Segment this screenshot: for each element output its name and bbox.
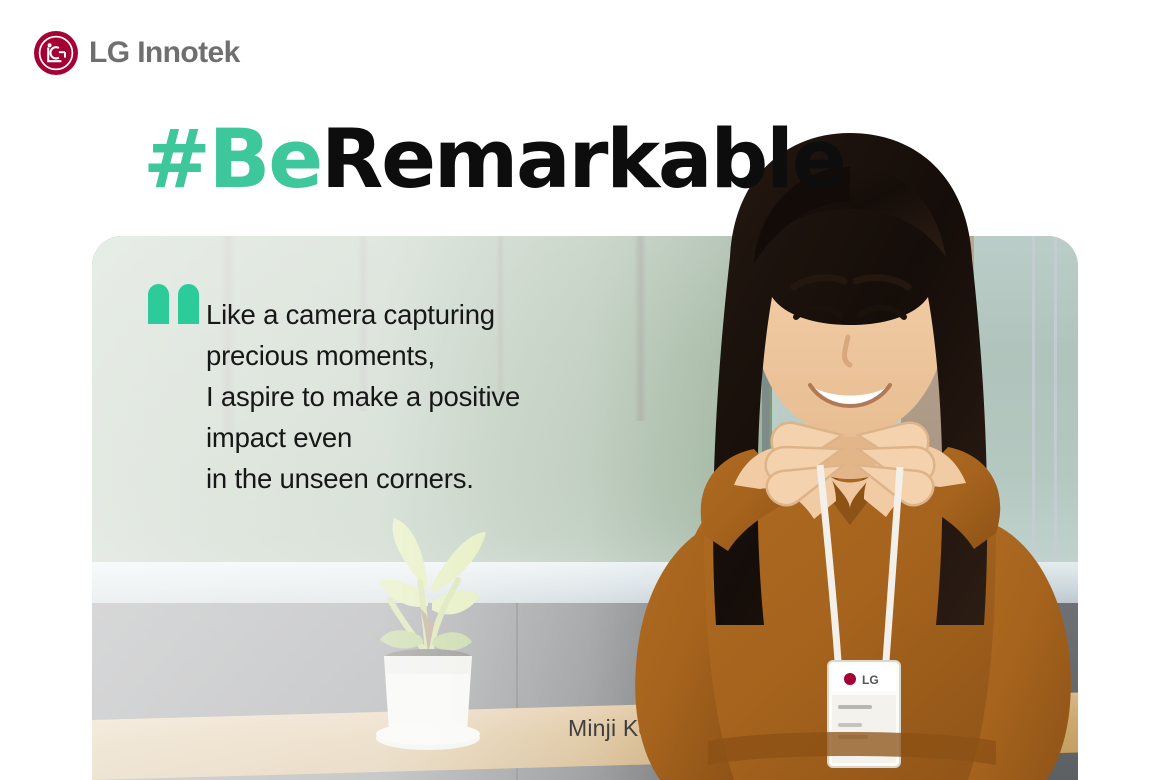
quote-line: impact even xyxy=(206,417,520,458)
quote-text: Like a camera capturing precious moments… xyxy=(206,294,520,499)
brand-logo: LG Innotek xyxy=(33,30,240,76)
headline-accent: #Be xyxy=(143,113,321,207)
quote-line: in the unseen corners. xyxy=(206,458,520,499)
poster-root: LG Innotek #BeRemarkable xyxy=(0,0,1170,780)
lg-circle-logo-icon xyxy=(33,30,79,76)
headline-main: Remarkable xyxy=(321,113,845,207)
brand-wordmark: LG Innotek xyxy=(89,38,240,68)
double-quote-icon xyxy=(148,284,199,324)
page-title: #BeRemarkable xyxy=(143,112,844,208)
quote-line: I aspire to make a positive xyxy=(206,376,520,417)
quote-line: Like a camera capturing xyxy=(206,294,520,335)
svg-text:LG: LG xyxy=(862,673,879,687)
quote-line: precious moments, xyxy=(206,335,520,376)
